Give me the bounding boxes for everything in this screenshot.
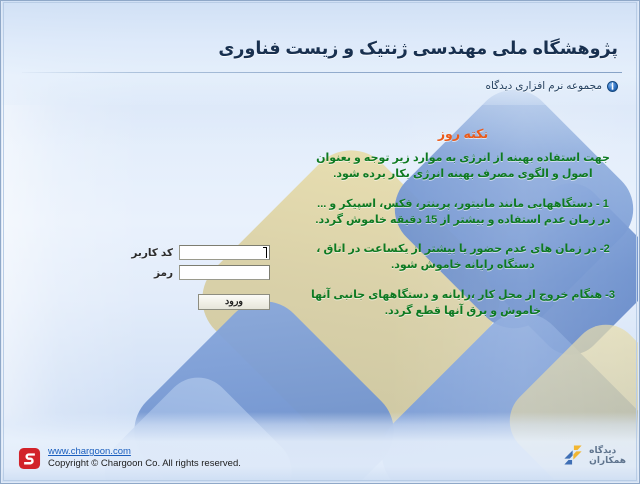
copyright-text: Copyright © Chargoon Co. All rights rese… [48, 458, 241, 470]
tip-item: 3- هنگام خروج از محل کار ،رایانه و دستگا… [302, 287, 624, 320]
login-screen: پژوهشگاه ملی مهندسی ژنتیک و زیست فناوری … [0, 0, 640, 484]
tip-intro: جهت استفاده بهینه از انرژی به موارد زیر … [302, 150, 624, 183]
username-label: کد کاربر [130, 247, 175, 259]
login-submit-button[interactable]: ورود [198, 294, 270, 310]
footer: www.chargoon.com Copyright © Chargoon Co… [18, 446, 241, 470]
chargoon-website-link[interactable]: www.chargoon.com [48, 446, 241, 458]
username-field-wrapper[interactable] [179, 245, 270, 260]
tip-item-line: 1 - دستگاههایی مانند مانیتور، پرینتر، فک… [302, 196, 624, 212]
header-subtitle: مجموعه نرم افزاری دیدگاه [485, 80, 602, 92]
username-input[interactable] [180, 246, 269, 259]
login-form: کد کاربر رمز ورود [130, 245, 270, 310]
didgah-brand-logo: دیدگاه همکاران [562, 444, 626, 466]
tip-item: 2- در زمان های عدم حضور یا بیشتر از یکسا… [302, 241, 624, 274]
didgah-chevron-logo-icon [562, 444, 584, 466]
tip-of-the-day-panel: نکته روز جهت استفاده بهینه از انرژی به م… [302, 126, 624, 319]
password-input[interactable] [180, 266, 269, 279]
password-row: رمز [130, 265, 270, 280]
tip-item-line: دستگاه رایانه خاموش شود. [302, 257, 624, 273]
header: پژوهشگاه ملی مهندسی ژنتیک و زیست فناوری … [0, 0, 640, 108]
info-icon[interactable] [607, 81, 618, 92]
tip-item-line: 2- در زمان های عدم حضور یا بیشتر از یکسا… [302, 241, 624, 257]
password-label: رمز [130, 267, 175, 279]
tip-item-line: در زمان عدم استفاده و بیشتر از 15 دقیقه … [302, 212, 624, 228]
header-subtitle-group: مجموعه نرم افزاری دیدگاه [485, 80, 618, 92]
tip-intro-line: اصول و الگوی مصرف بهینه انرژی بکار برده … [302, 166, 624, 182]
tip-item-line: خاموش و برق آنها قطع گردد. [302, 303, 624, 319]
page-title: پژوهشگاه ملی مهندسی ژنتیک و زیست فناوری [218, 38, 618, 59]
password-field-wrapper[interactable] [179, 265, 270, 280]
chargoon-logo-icon [18, 447, 41, 470]
footer-text-group: www.chargoon.com Copyright © Chargoon Co… [48, 446, 241, 470]
tip-title: نکته روز [302, 126, 624, 141]
brand-wordmark: دیدگاه همکاران [589, 445, 626, 465]
brand-line-2: همکاران [589, 455, 626, 465]
tip-item: 1 - دستگاههایی مانند مانیتور، پرینتر، فک… [302, 196, 624, 229]
login-actions: ورود [130, 294, 270, 310]
brand-line-1: دیدگاه [589, 445, 616, 455]
tip-intro-line: جهت استفاده بهینه از انرژی به موارد زیر … [302, 150, 624, 166]
tip-item-line: 3- هنگام خروج از محل کار ،رایانه و دستگا… [302, 287, 624, 303]
header-divider [22, 72, 622, 73]
username-row: کد کاربر [130, 245, 270, 260]
text-caret [266, 247, 267, 258]
